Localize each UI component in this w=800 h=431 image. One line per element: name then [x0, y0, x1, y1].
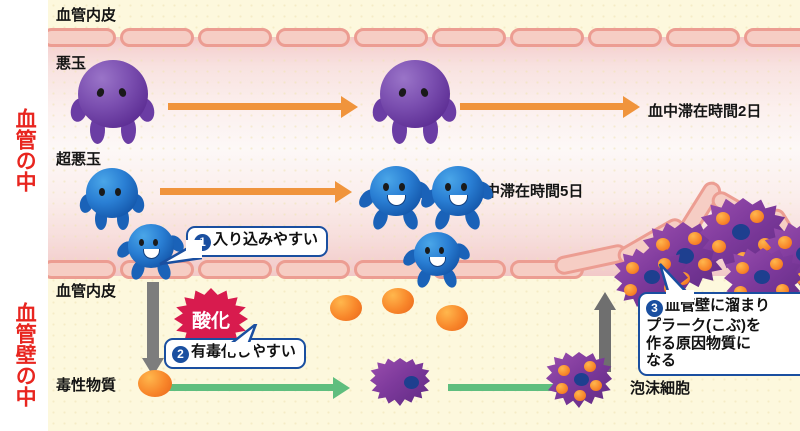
callout-number-3: 3: [646, 300, 663, 317]
endothelium-row-top: [48, 28, 800, 50]
endothelial-cell: [198, 260, 272, 279]
label-residence-time-bad: 血中滞在時間2日: [648, 104, 761, 119]
lipid-droplet: [556, 383, 568, 394]
callout-2-tail: [216, 324, 260, 352]
eye-left: [445, 183, 451, 191]
bad-cholesterol-character: [378, 60, 452, 144]
foam-cell: [546, 352, 612, 408]
cell-nucleus: [574, 373, 589, 386]
endothelial-cell: [354, 28, 428, 47]
arrow-shaft: [147, 282, 159, 358]
eye-right: [461, 183, 467, 191]
lipid-droplet: [626, 262, 639, 274]
eye-right: [399, 183, 405, 191]
callout-text-1: 入り込みやすい: [213, 231, 318, 248]
label-endothelium-top: 血管内皮: [56, 8, 116, 23]
eye-left: [383, 183, 389, 191]
body: [432, 166, 484, 216]
endothelial-cell: [198, 28, 272, 47]
arrow-head: [333, 377, 350, 399]
bad-cholesterol-character: [76, 60, 150, 144]
endothelial-cell: [744, 28, 800, 47]
lipid-droplet: [770, 258, 783, 270]
cell-nucleus: [754, 270, 770, 284]
callout-1-tail: [156, 238, 202, 268]
arrow-shaft: [168, 103, 342, 110]
side-label-in-vessel: 血管の中: [0, 86, 48, 214]
callout-1: 1入り込みやすい: [186, 226, 328, 257]
lipid-droplet: [750, 210, 764, 223]
arrow-bad-flow-1: [168, 101, 358, 112]
illustration-panel: 血管内皮 悪玉 超悪玉 血管内皮 毒性物質 泡沫細胞 血中滞在時間2日 血中滞在…: [48, 0, 800, 431]
lipid-droplet: [584, 361, 596, 372]
arrow-oxidation-down: [142, 282, 164, 376]
lipid-droplet: [624, 284, 637, 296]
body: [370, 166, 422, 216]
body: [86, 168, 138, 218]
arrow-superbad-flow: [160, 186, 352, 197]
endothelial-cell: [48, 28, 116, 47]
callout-3: 3血管壁に溜まり プラーク(こぶ)を 作る原因物質に なる: [638, 292, 800, 376]
body: [380, 60, 450, 128]
arrow-toxic-to-macrophage: [164, 382, 350, 393]
arrow-head: [594, 292, 616, 310]
label-endothelium-middle: 血管内皮: [56, 284, 116, 299]
label-toxic-substance: 毒性物質: [56, 378, 116, 393]
callout-text-3-line-3: 作る原因物質に: [646, 335, 751, 352]
arrow-bad-flow-2: [460, 101, 640, 112]
super-bad-cholesterol-character: [368, 166, 424, 230]
arrow-head: [335, 181, 352, 203]
lipid-droplet: [558, 365, 570, 376]
eye-right: [115, 188, 121, 196]
callout-3-tail: [656, 262, 700, 302]
toxic-particle: [436, 305, 468, 331]
eye-right: [439, 247, 444, 254]
endothelial-cell: [666, 28, 740, 47]
arrow-head: [623, 96, 640, 118]
toxic-particle: [382, 288, 414, 314]
macrophage-cell: [370, 358, 430, 406]
lipid-droplet: [590, 380, 602, 391]
arrow-shaft: [164, 384, 334, 391]
super-bad-cholesterol-entering: [412, 232, 462, 288]
cell-body: [370, 358, 430, 406]
label-super-bad-cholesterol: 超悪玉: [56, 152, 101, 167]
callout-text-3-line-4: なる: [646, 352, 676, 369]
endothelial-cell: [588, 28, 662, 47]
label-foam-cell: 泡沫細胞: [630, 381, 690, 396]
endothelial-cell: [510, 28, 584, 47]
eye-left: [139, 239, 144, 246]
body: [78, 60, 148, 128]
lipid-droplet: [716, 212, 730, 225]
eye-left: [425, 247, 430, 254]
callout-text-3-line-2: プラーク(こぶ)を: [646, 317, 761, 334]
lipid-droplet: [574, 390, 586, 401]
arrow-shaft: [460, 103, 624, 110]
toxic-particle: [138, 370, 172, 397]
super-bad-cholesterol-character: [430, 166, 486, 230]
lipid-droplet: [736, 262, 749, 274]
super-bad-cholesterol-character: [84, 168, 140, 230]
endothelial-cell: [276, 28, 350, 47]
toxic-particle: [330, 295, 362, 321]
side-label-in-vessel-wall: 血管壁の中: [0, 290, 48, 418]
cell-nucleus: [732, 224, 750, 240]
endothelial-cell: [432, 28, 506, 47]
body: [414, 232, 460, 276]
diagram-canvas: 血管の中 血管壁の中: [0, 0, 800, 431]
endothelial-cell: [120, 28, 194, 47]
arrow-shaft: [160, 188, 336, 195]
arrow-head: [341, 96, 358, 118]
endothelial-cell: [276, 260, 350, 279]
eye-left: [99, 188, 105, 196]
cell-nucleus: [404, 376, 419, 389]
endothelial-cell: [48, 260, 116, 279]
callout-number-2: 2: [172, 346, 189, 363]
